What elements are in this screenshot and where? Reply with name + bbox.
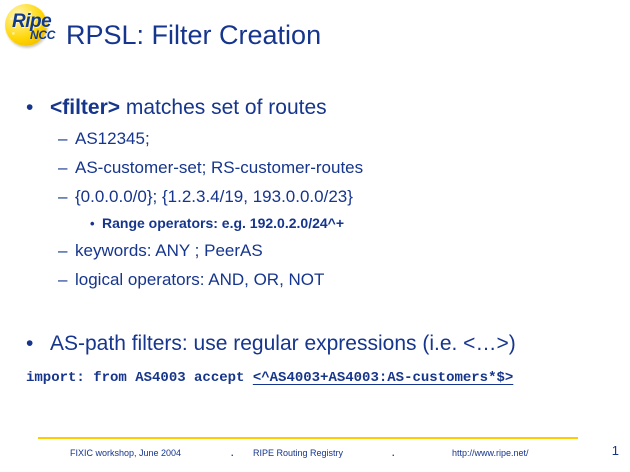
list-item: – {0.0.0.0/0}; {1.2.3.4/19, 193.0.0.0/23… <box>0 182 630 211</box>
slide-canvas: Ripe NCC RPSL: Filter Creation • <filter… <box>0 0 630 472</box>
footer-separator-1: . <box>231 448 234 458</box>
filter-description: matches set of routes <box>120 96 327 119</box>
sub-bullet-marker-icon: • <box>90 211 95 236</box>
bullet-level1-aspath: • AS-path filters: use regular expressio… <box>0 328 630 360</box>
logo-secondary-text: NCC <box>30 28 55 42</box>
footer-separator-2: . <box>392 448 395 458</box>
list-item-text: logical operators: AND, OR, NOT <box>75 270 324 289</box>
code-regex-expression: <^AS4003+AS4003:AS-customers*$> <box>253 370 513 386</box>
footer-divider <box>38 437 578 439</box>
bullet-marker-icon: • <box>26 92 33 124</box>
sub-list-item-text: Range operators: e.g. 192.0.2.0/24^+ <box>102 215 344 231</box>
filter-keyword: <filter> <box>50 96 120 119</box>
footer-topic-label: RIPE Routing Registry <box>253 448 343 458</box>
footer-event-label: FIXIC workshop, June 2004 <box>70 448 181 458</box>
sub-list-item: • Range operators: e.g. 192.0.2.0/24^+ <box>0 211 630 236</box>
list-item: – AS12345; <box>0 124 630 153</box>
bullet-level1-aspath-text: AS-path filters: use regular expressions… <box>50 332 516 355</box>
dash-marker-icon: – <box>58 265 67 294</box>
bullet-marker-icon: • <box>26 328 33 360</box>
list-item-text: {0.0.0.0/0}; {1.2.3.4/19, 193.0.0.0/23} <box>75 187 353 206</box>
list-item-text: keywords: ANY ; PeerAS <box>75 241 263 260</box>
list-item: – AS-customer-set; RS-customer-routes <box>0 153 630 182</box>
dash-marker-icon: – <box>58 236 67 265</box>
dash-marker-icon: – <box>58 182 67 211</box>
dash-marker-icon: – <box>58 153 67 182</box>
ripe-ncc-logo: Ripe NCC <box>3 2 61 48</box>
slide-footer: FIXIC workshop, June 2004 . RIPE Routing… <box>0 446 630 464</box>
list-item: – logical operators: AND, OR, NOT <box>0 265 630 294</box>
code-plain-text: import: from AS4003 accept <box>26 370 253 386</box>
slide-title: RPSL: Filter Creation <box>66 20 321 51</box>
rpsl-code-line: import: from AS4003 accept <^AS4003+AS40… <box>26 370 513 386</box>
list-item-text: AS12345; <box>75 129 150 148</box>
footer-url: http://www.ripe.net/ <box>452 448 529 458</box>
bullet-level1-filter: • <filter> matches set of routes <box>0 92 630 124</box>
list-item-text: AS-customer-set; RS-customer-routes <box>75 158 363 177</box>
vertical-spacer <box>0 294 630 328</box>
list-item: – keywords: ANY ; PeerAS <box>0 236 630 265</box>
bullet-level1-filter-text: <filter> matches set of routes <box>50 96 327 119</box>
slide-body: • <filter> matches set of routes – AS123… <box>0 92 630 360</box>
dash-marker-icon: – <box>58 124 67 153</box>
page-number: 1 <box>612 443 619 458</box>
